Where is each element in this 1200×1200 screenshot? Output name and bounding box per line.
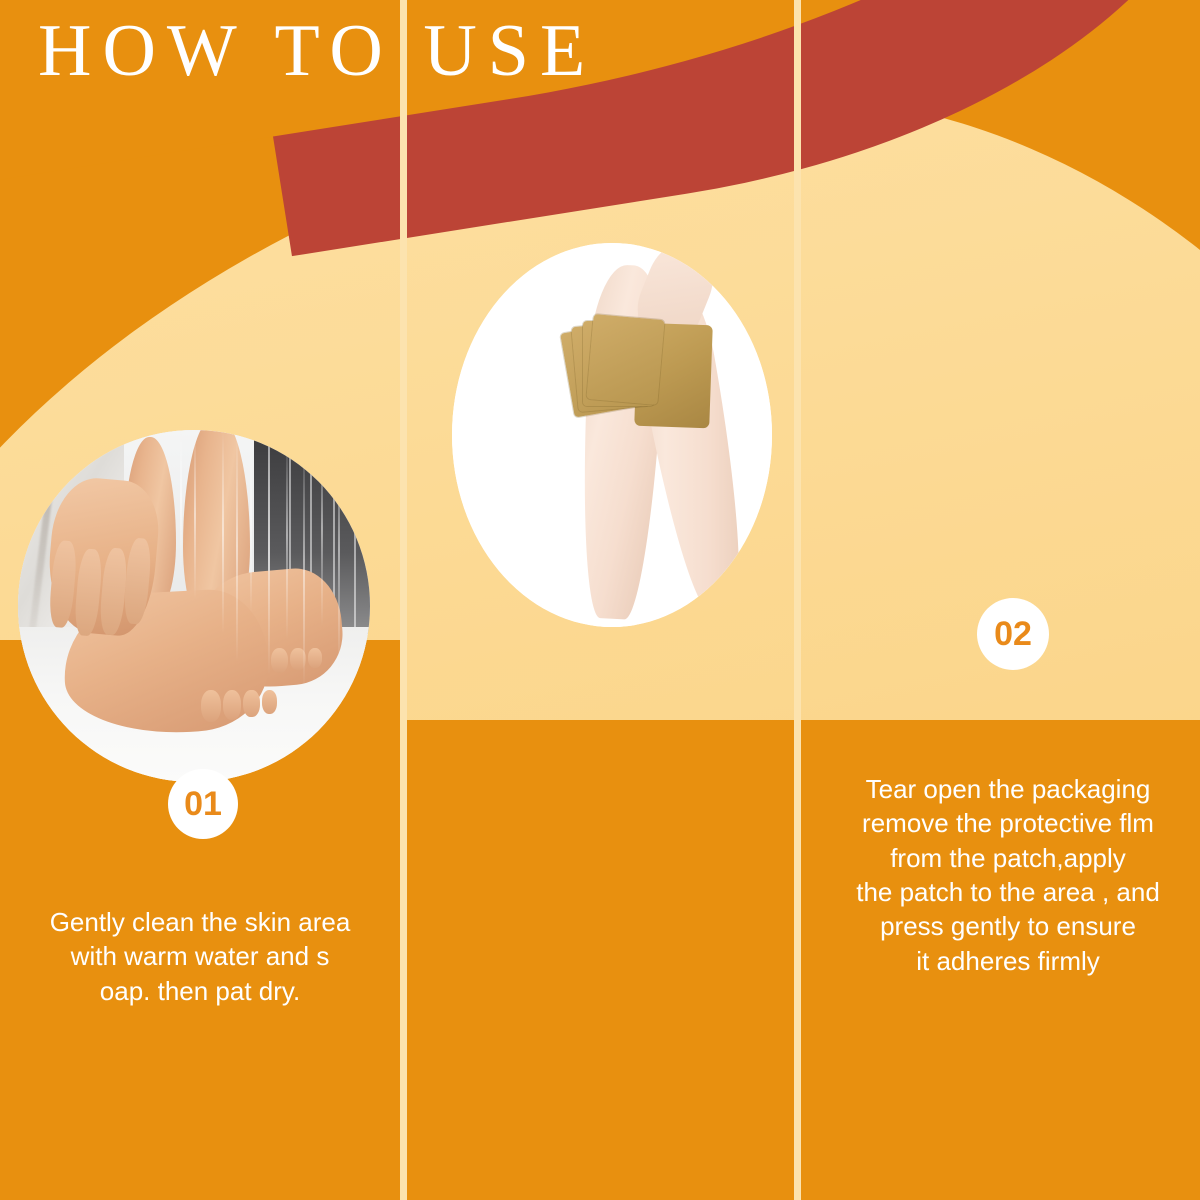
step-column-3: XII I II III IIII V VI VII VIII IX X XI … — [801, 0, 1200, 1200]
step-2-photo: TURMERIC VARICOSE VEIN PATCH FDA GMP ⚕ C… — [452, 243, 772, 627]
column-divider-2 — [794, 0, 801, 1200]
step-column-2: TURMERIC VARICOSE VEIN PATCH FDA GMP ⚕ C… — [407, 0, 794, 1200]
step-column-1: 01 Gently clean the skin area with warm … — [0, 0, 400, 1200]
column-divider-1 — [400, 0, 407, 1200]
step-1-photo — [18, 430, 370, 782]
legs-crossed — [529, 251, 772, 620]
patch-fan-stack — [567, 316, 663, 431]
leg-patch-scene: TURMERIC VARICOSE VEIN PATCH FDA GMP ⚕ C… — [452, 243, 772, 627]
shower-scene — [18, 430, 370, 782]
infographic-canvas: HOW TO USE — [0, 0, 1200, 1200]
step-1-caption: Gently clean the skin area with warm wat… — [6, 905, 394, 1008]
water-spray — [18, 430, 370, 782]
step-1-number-badge: 01 — [168, 769, 238, 839]
